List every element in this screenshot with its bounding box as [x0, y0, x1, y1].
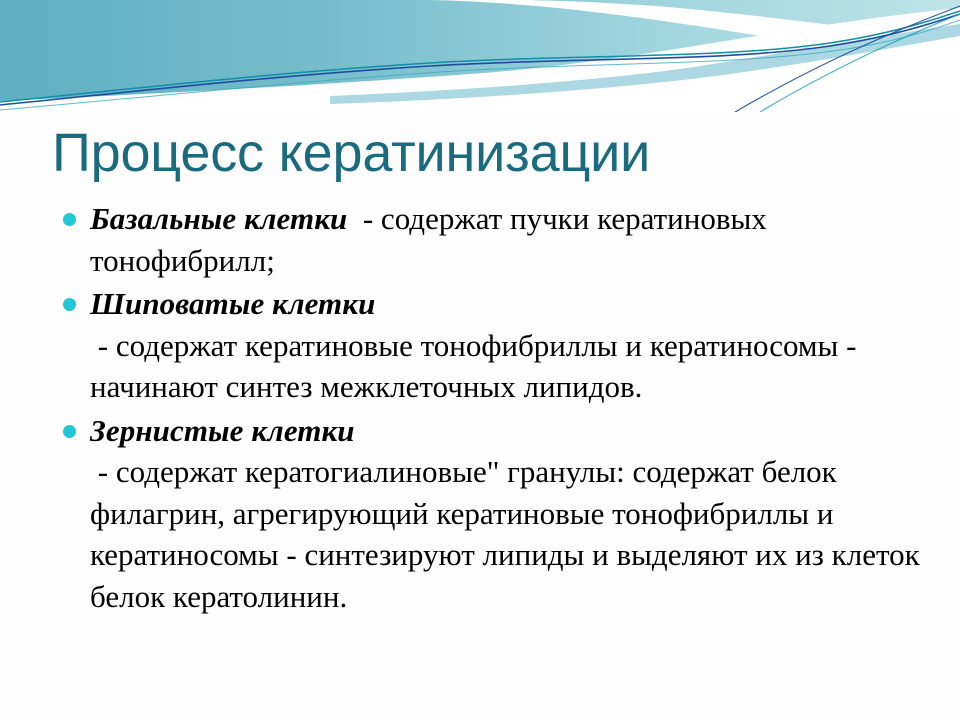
slide-header-decoration	[0, 0, 960, 112]
list-item-rest: - содержат кератиновые тонофибриллы и ке…	[90, 328, 864, 405]
list-item-lead: Зернистые клетки	[90, 413, 355, 448]
flow-swoosh-graphic	[0, 0, 960, 112]
bullet-dot-icon	[63, 213, 76, 226]
list-item: Шиповатые клетки - содержат кератиновые …	[52, 283, 928, 408]
list-item-rest: - содержат кератогиалиновые" гранулы: со…	[90, 454, 927, 614]
list-item-text: Шиповатые клетки - содержат кератиновые …	[90, 283, 928, 408]
list-item: Базальные клетки - содержат пучки керати…	[52, 198, 928, 281]
bullet-dot-icon	[63, 425, 76, 438]
list-item: Зернистые клетки - содержат кератогиалин…	[52, 410, 928, 618]
list-item-lead: Шиповатые клетки	[90, 286, 375, 321]
list-item-lead: Базальные клетки	[90, 201, 347, 236]
bullet-dot-icon	[63, 298, 76, 311]
bullet-list: Базальные клетки - содержат пучки керати…	[52, 198, 928, 619]
page-title: Процесс кератинизации	[52, 122, 912, 184]
list-item-text: Базальные клетки - содержат пучки керати…	[90, 198, 928, 281]
presentation-slide: Процесс кератинизации Базальные клетки -…	[0, 0, 960, 720]
list-item-text: Зернистые клетки - содержат кератогиалин…	[90, 410, 928, 618]
